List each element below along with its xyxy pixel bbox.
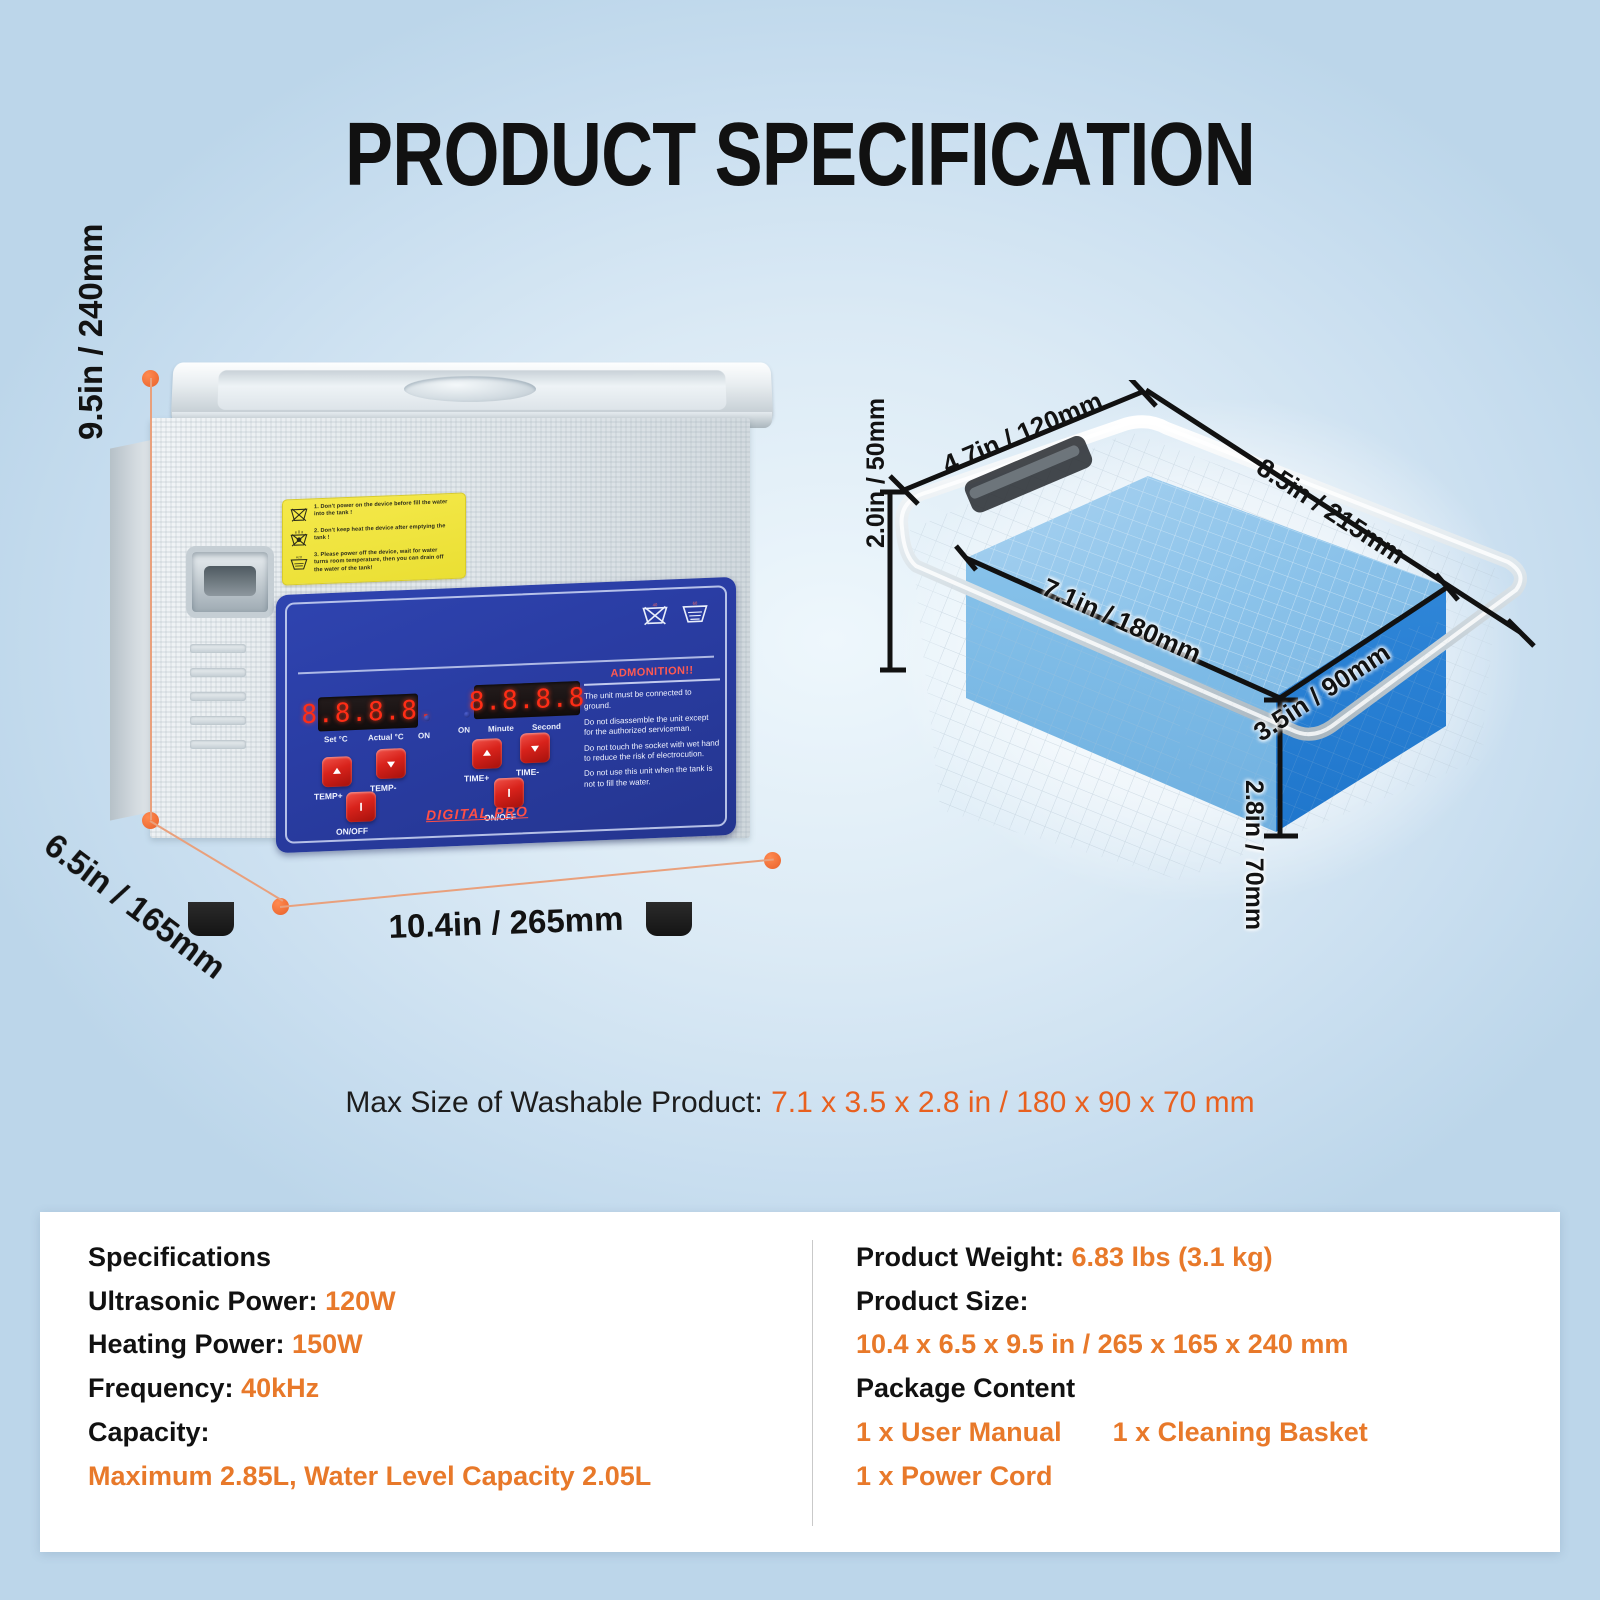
temp-on-label: ON	[418, 731, 430, 740]
svg-text:40: 40	[653, 602, 658, 607]
max-size-line: Max Size of Washable Product: 7.1 x 3.5 …	[0, 1086, 1600, 1120]
vent-slot	[190, 692, 246, 701]
temp-up-label: TEMP+	[314, 791, 343, 802]
spec-row-ultrasonic-power: Ultrasonic Power: 120W	[88, 1280, 788, 1324]
package-item: 1 x Power Cord	[856, 1455, 1053, 1499]
no-heat-wash-icon	[289, 529, 309, 548]
specs-column: Specifications Ultrasonic Power: 120W He…	[88, 1236, 788, 1498]
arrow-up-icon	[330, 765, 344, 780]
arrow-up-icon	[480, 746, 494, 761]
spec-row-frequency: Frequency: 40kHz	[88, 1367, 788, 1411]
spec-label: Heating Power:	[88, 1329, 285, 1359]
product-weight-label: Product Weight:	[856, 1242, 1064, 1272]
temperature-display: 8.8.8.8.	[318, 694, 418, 732]
time-up-button[interactable]	[472, 738, 502, 769]
second-label: Second	[532, 722, 561, 732]
drain-water-icon: H2O	[289, 553, 309, 572]
vent-slot	[190, 668, 246, 677]
spec-value: 120W	[325, 1286, 396, 1316]
svg-text:H2O: H2O	[296, 555, 303, 559]
machine-height-label: 9.5in / 240mm	[72, 224, 110, 440]
power-icon	[354, 800, 368, 815]
product-size-value: 10.4 x 6.5 x 9.5 in / 265 x 165 x 240 mm	[856, 1323, 1516, 1367]
package-items-row-2: 1 x Power Cord	[856, 1455, 1516, 1499]
machine-body: 1. Don't power on the device before fill…	[150, 418, 750, 838]
time-down-button[interactable]	[520, 732, 550, 763]
temp-onoff-label: ON/OFF	[336, 826, 368, 837]
machine-width-label: 10.4in / 265mm	[388, 900, 624, 946]
water-wash-icon: 60	[680, 600, 710, 627]
warning-label-sticker: 1. Don't power on the device before fill…	[282, 492, 466, 585]
specs-heading: Specifications	[88, 1236, 788, 1280]
lid-oval-handle	[404, 376, 536, 402]
temp-up-button[interactable]	[322, 756, 352, 787]
package-item: 1 x Cleaning Basket	[1113, 1411, 1368, 1455]
time-up-label: TIME+	[464, 773, 489, 784]
temp-onoff-button[interactable]	[346, 791, 376, 822]
product-column: Product Weight: 6.83 lbs (3.1 kg) Produc…	[856, 1236, 1516, 1498]
timer-display: 8.8.8.8	[474, 681, 580, 719]
max-size-value: 7.1 x 3.5 x 2.8 in / 180 x 90 x 70 mm	[771, 1086, 1255, 1119]
warning-item: 2. Don't keep heat the device after empt…	[289, 523, 465, 549]
basket-rim-height-label: 2.0in / 50mm	[862, 398, 891, 548]
time-down-label: TIME-	[516, 767, 539, 778]
capacity-label: Capacity:	[88, 1411, 788, 1455]
capacity-value: Maximum 2.85L, Water Level Capacity 2.05…	[88, 1455, 788, 1499]
spec-label: Ultrasonic Power:	[88, 1286, 318, 1316]
page-title: PRODUCT SPECIFICATION	[160, 104, 1440, 207]
minute-label: Minute	[488, 724, 514, 734]
handle-slot	[204, 566, 256, 596]
warning-item: H2O 3. Please power off the device, wait…	[289, 547, 465, 576]
product-specification-page: PRODUCT SPECIFICATION	[0, 0, 1600, 1600]
package-content-label: Package Content	[856, 1367, 1516, 1411]
actual-temp-label: Actual °C	[368, 732, 404, 742]
set-temp-label: Set °C	[324, 734, 348, 744]
warning-item-text: 2. Don't keep heat the device after empt…	[314, 523, 452, 543]
product-weight-row: Product Weight: 6.83 lbs (3.1 kg)	[856, 1236, 1516, 1280]
basket-inner-depth-label: 2.8in / 70mm	[1239, 780, 1268, 930]
temp-down-button[interactable]	[376, 748, 406, 779]
ultrasonic-cleaner-illustration: 1. Don't power on the device before fill…	[150, 352, 800, 892]
arrow-down-icon	[528, 741, 542, 756]
machine-foot	[646, 902, 692, 936]
vent-slot	[190, 716, 246, 725]
specification-card: Specifications Ultrasonic Power: 120W He…	[40, 1212, 1560, 1552]
card-divider	[812, 1240, 813, 1526]
timer-on-label: ON	[458, 725, 470, 734]
warning-item: 1. Don't power on the device before fill…	[289, 499, 465, 525]
vent-slot	[190, 644, 246, 653]
spec-value: 40kHz	[241, 1373, 319, 1403]
package-item: 1 x User Manual	[856, 1411, 1062, 1455]
admonition-line: Do not touch the socket with wet hand to…	[584, 738, 720, 764]
product-weight-value: 6.83 lbs (3.1 kg)	[1072, 1242, 1273, 1272]
admonition-line: Do not use this unit when the tank is no…	[584, 764, 720, 790]
no-power-wash-icon	[289, 505, 309, 524]
machine-handle	[186, 546, 274, 618]
admonition-block: ADMONITION!! The unit must be connected …	[584, 663, 720, 795]
panel-wash-icons: 40 60	[640, 600, 710, 629]
spec-row-heating-power: Heating Power: 150W	[88, 1323, 788, 1367]
machine-left-side	[110, 439, 154, 820]
spec-value: 150W	[292, 1329, 363, 1359]
max-size-label: Max Size of Washable Product:	[345, 1086, 762, 1119]
arrow-down-icon	[384, 756, 398, 771]
product-size-label: Product Size:	[856, 1280, 1516, 1324]
svg-text:60: 60	[693, 601, 698, 606]
control-panel: 40 60 8.8.8.8. Set °C Actual °C	[276, 577, 736, 853]
height-dimension-line	[150, 378, 152, 820]
no-wash-icon: 40	[640, 601, 670, 628]
admonition-line: Do not disassemble the unit except for t…	[584, 712, 720, 738]
power-icon	[502, 786, 516, 801]
warning-item-text: 3. Please power off the device, wait for…	[314, 547, 452, 574]
warning-item-text: 1. Don't power on the device before fill…	[314, 499, 452, 519]
admonition-line: The unit must be connected to ground.	[584, 686, 720, 712]
vent-slot	[190, 740, 246, 749]
package-items-row-1: 1 x User Manual 1 x Cleaning Basket	[856, 1411, 1516, 1455]
spec-label: Frequency:	[88, 1373, 234, 1403]
